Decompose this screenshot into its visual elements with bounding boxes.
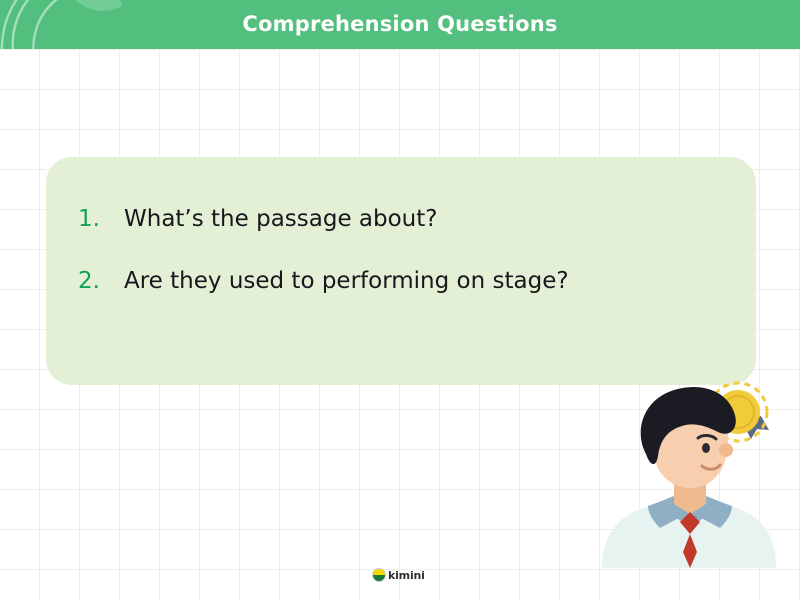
slide-header: Comprehension Questions — [0, 0, 800, 49]
questions-card: 1. What’s the passage about? 2. Are they… — [46, 157, 756, 385]
slide: Comprehension Questions 1. What’s the pa… — [0, 0, 800, 600]
page-title: Comprehension Questions — [0, 0, 800, 49]
question-number: 1. — [78, 203, 124, 235]
list-item: 1. What’s the passage about? — [78, 203, 728, 235]
questions-list: 1. What’s the passage about? 2. Are they… — [78, 203, 728, 297]
logo-text: kimini — [388, 569, 425, 582]
list-item: 2. Are they used to performing on stage? — [78, 265, 728, 297]
businessman-avatar-illustration — [590, 378, 790, 568]
kimini-circle-logo — [372, 568, 386, 582]
question-number: 2. — [78, 265, 124, 297]
question-text: Are they used to performing on stage? — [124, 265, 569, 297]
question-text: What’s the passage about? — [124, 203, 437, 235]
kimini-logo: kimini — [372, 565, 442, 585]
